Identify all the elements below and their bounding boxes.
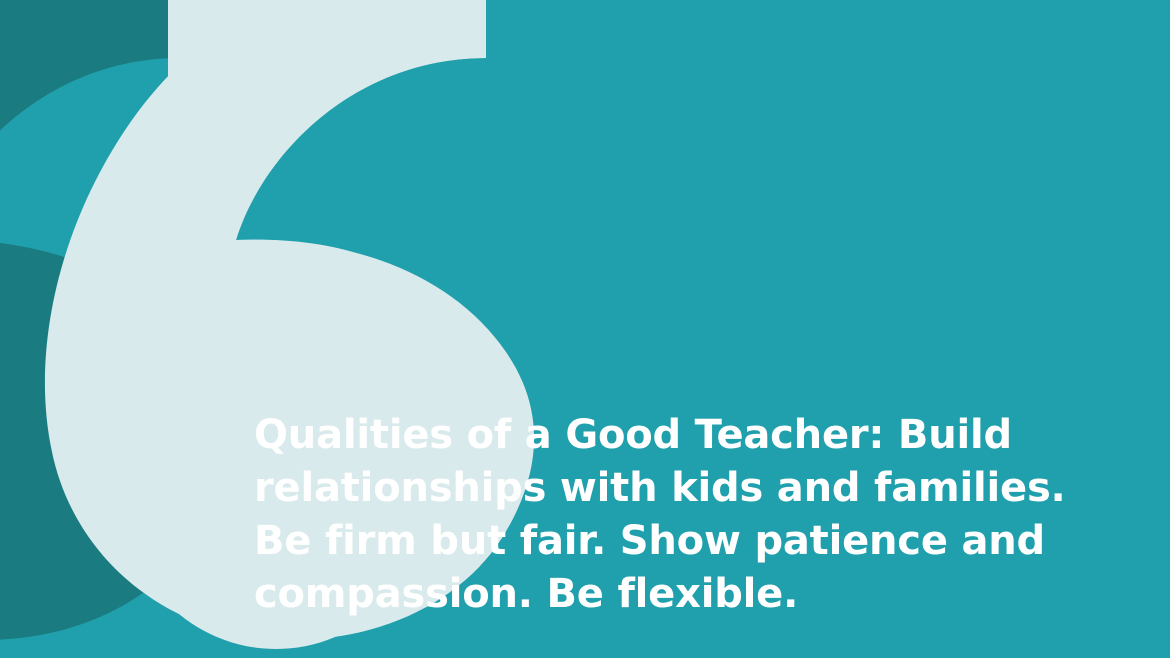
quote-slide: Qualities of a Good Teacher: Build relat… xyxy=(0,0,1170,658)
quote-mark-back xyxy=(0,0,228,643)
quote-text: Qualities of a Good Teacher: Build relat… xyxy=(254,409,1124,621)
